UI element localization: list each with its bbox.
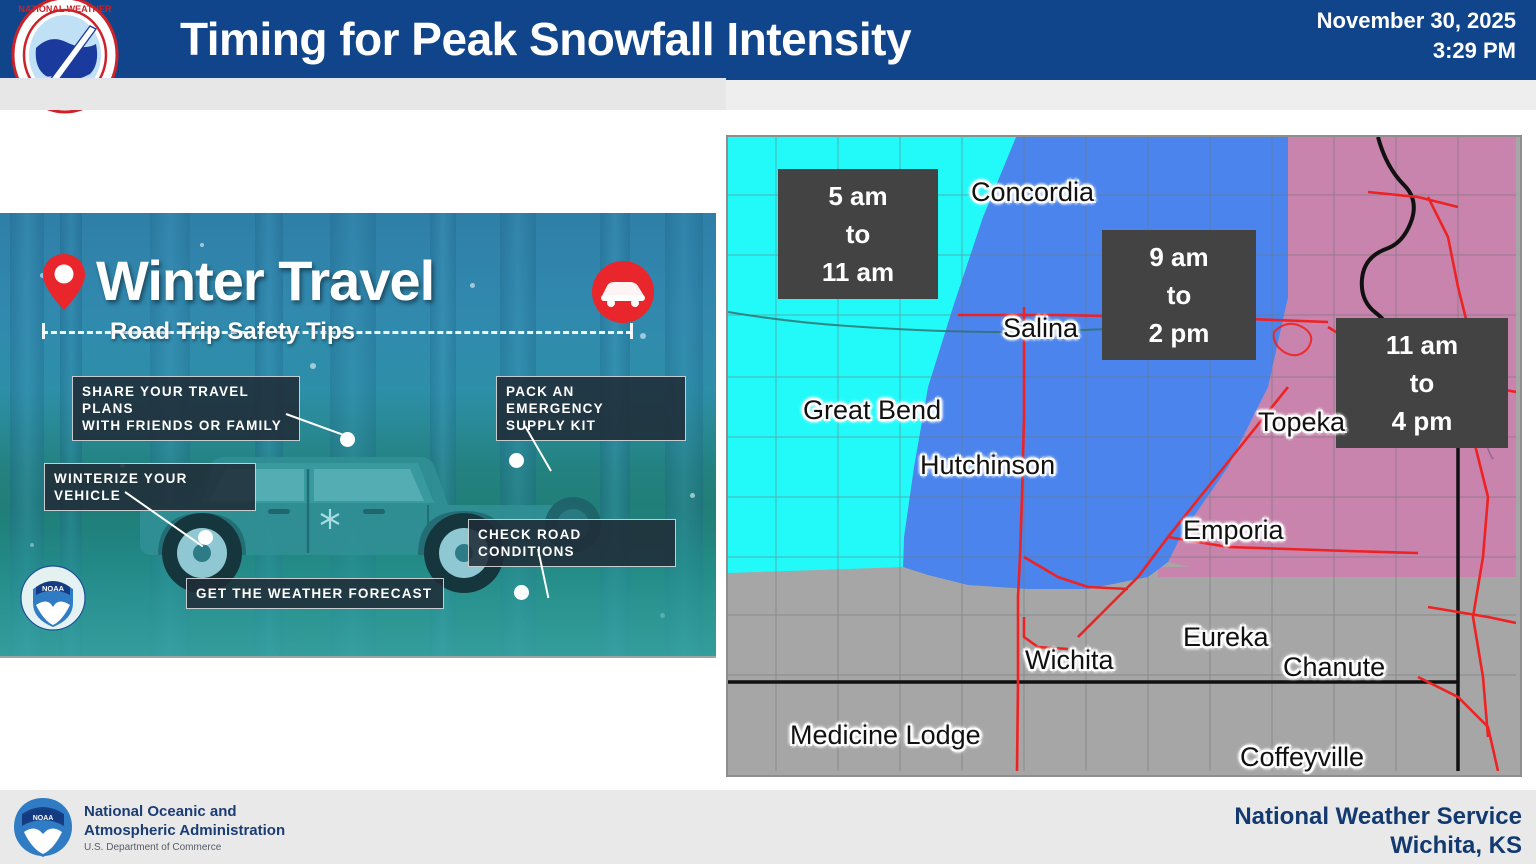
timing-line-1: 9 am [1102,238,1256,276]
city-label-hutchinson: Hutchinson [920,450,1055,481]
page-footer: NOAA National Oceanic and Atmospheric Ad… [0,790,1536,864]
timing-box-9am-2pm[interactable]: 9 am to 2 pm [1102,230,1256,360]
svg-text:NOAA: NOAA [33,815,54,822]
infographic-subtitle: Road Trip Safety Tips [110,318,355,346]
nws-office-line-1: National Weather Service [1234,802,1522,831]
timing-line-2: to [1102,276,1256,314]
page-title: Timing for Peak Snowfall Intensity [180,6,1100,72]
leader-dot-pack-emergency-kit [509,453,524,468]
noaa-line-2: Atmospheric Administration [84,821,285,840]
header-strip-right [726,80,1536,110]
timing-box-11am-4pm[interactable]: 11 am to 4 pm [1336,318,1508,448]
infographic-title: Winter Travel [96,248,434,313]
city-label-great-bend: Great Bend [803,395,941,426]
divider-end-left [42,323,45,339]
noaa-logo-infographic-icon: NOAA [20,565,86,631]
city-label-salina: Salina [1003,313,1078,344]
callout-share-travel-plans: SHARE YOUR TRAVEL PLANS WITH FRIENDS OR … [72,376,300,441]
svg-text:NATIONAL WEATHER: NATIONAL WEATHER [19,4,112,14]
header-time: 3:29 PM [1317,36,1516,66]
snowfall-timing-map[interactable]: 5 am to 11 am 9 am to 2 pm 11 am to 4 pm… [726,135,1522,777]
header-timestamp: November 30, 2025 3:29 PM [1317,6,1516,66]
timing-box-5am-11am[interactable]: 5 am to 11 am [778,169,938,299]
city-label-wichita: Wichita [1025,645,1114,676]
header-strip-left [0,80,726,110]
city-label-chanute: Chanute [1283,652,1385,683]
timing-line-3: 11 am [778,253,938,291]
city-label-concordia: Concordia [971,177,1094,208]
callout-pack-emergency-kit: PACK AN EMERGENCY SUPPLY KIT [496,376,686,441]
timing-line-3: 2 pm [1102,314,1256,352]
location-pin-icon [42,253,86,311]
noaa-agency-name: National Oceanic and Atmospheric Adminis… [84,802,285,840]
leader-dot-check-road-conditions [514,585,529,600]
noaa-department: U.S. Department of Commerce [84,842,221,853]
timing-line-2: to [778,215,938,253]
city-label-emporia: Emporia [1183,515,1284,546]
leader-dot-winterize-vehicle [198,530,213,545]
callout-winterize-vehicle: WINTERIZE YOUR VEHICLE [44,463,256,511]
winter-travel-infographic: Winter Travel Road Trip Safety Tips [0,213,716,658]
city-label-eureka: Eureka [1183,622,1269,653]
timing-line-3: 4 pm [1336,402,1508,440]
city-label-topeka: Topeka [1258,407,1345,438]
nws-office: National Weather Service Wichita, KS [1234,802,1522,860]
svg-text:NOAA: NOAA [42,584,65,593]
noaa-logo-icon: NOAA [12,796,74,858]
header-date: November 30, 2025 [1317,6,1516,36]
timing-line-1: 5 am [778,177,938,215]
city-label-coffeyville: Coffeyville [1240,742,1364,773]
timing-line-1: 11 am [1336,326,1508,364]
callout-check-road-conditions: CHECK ROAD CONDITIONS [468,519,676,567]
timing-line-2: to [1336,364,1508,402]
leader-dot-share-travel-plans [340,432,355,447]
nws-office-line-2: Wichita, KS [1234,831,1522,860]
divider-end-right [630,323,633,339]
page-header: NATIONAL WEATHER ★ SERVICE ★ Timing for … [0,0,1536,80]
noaa-line-1: National Oceanic and [84,802,285,821]
car-icon [592,261,654,323]
city-label-medicine-lodge: Medicine Lodge [790,720,981,751]
callout-get-weather-forecast: GET THE WEATHER FORECAST [186,578,444,609]
